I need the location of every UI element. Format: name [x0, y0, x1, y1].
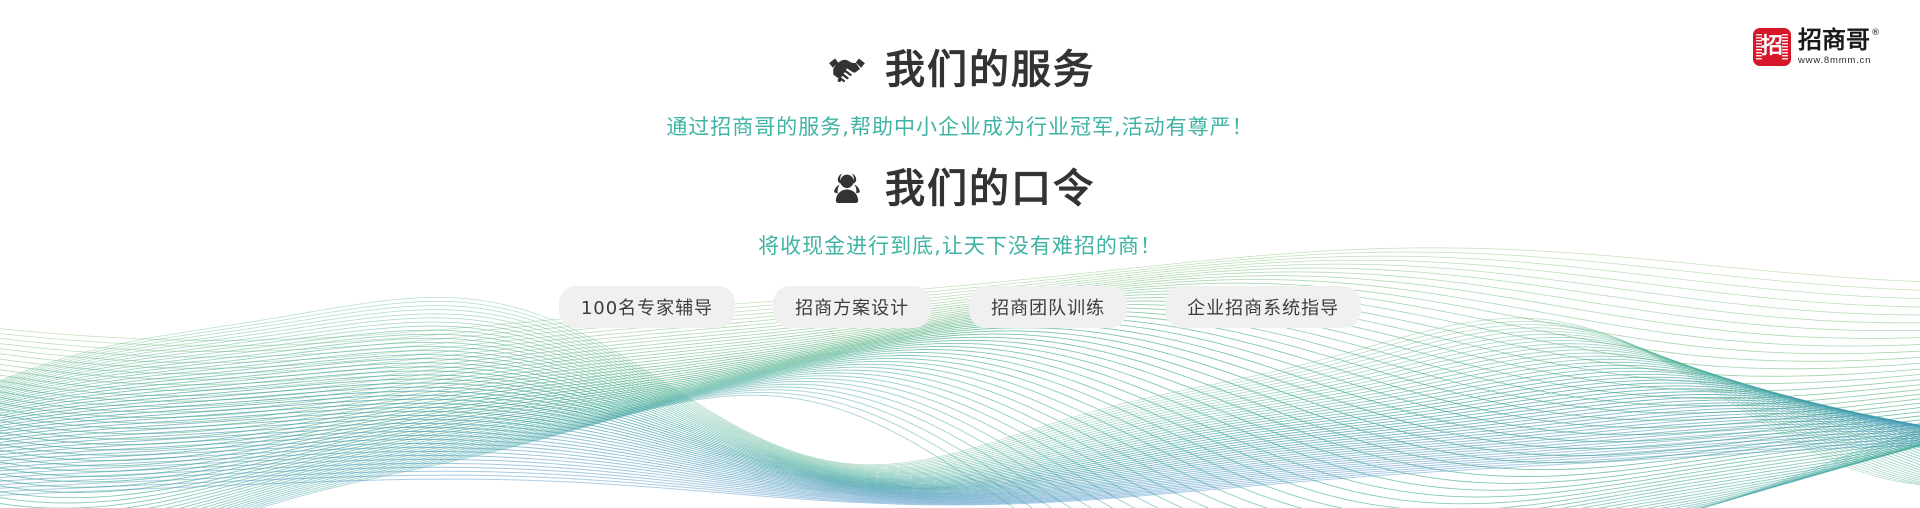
slogan-heading-text: 我们的口令 [885, 167, 1095, 211]
logo-mark-glyph: 招 [1761, 36, 1783, 58]
slogan-section: 我们的口令 将收现金进行到底,让天下没有难招的商！ [0, 167, 1920, 260]
brand-logo-text: 招商哥 ® www.8mmm.cn [1798, 28, 1880, 66]
service-subtitle: 通过招商哥的服务,帮助中小企业成为行业冠军,活动有尊严！ [0, 111, 1920, 141]
promo-banner: 招 招商哥 ® www.8mmm.cn 我 [0, 0, 1920, 508]
registered-mark: ® [1871, 29, 1880, 38]
users-icon [825, 167, 869, 211]
banner-content: 我们的服务 通过招商哥的服务,帮助中小企业成为行业冠军,活动有尊严！ 我们的 [0, 0, 1920, 328]
service-heading-text: 我们的服务 [885, 48, 1095, 92]
brand-url: www.8mmm.cn [1798, 56, 1880, 66]
brand-name: 招商哥 ® [1798, 28, 1880, 52]
brand-name-text: 招商哥 [1798, 28, 1870, 52]
brand-logo[interactable]: 招 招商哥 ® www.8mmm.cn [1753, 28, 1880, 66]
handshake-icon [825, 48, 869, 92]
tag-item[interactable]: 招商方案设计 [773, 286, 931, 328]
slogan-heading: 我们的口令 [0, 167, 1920, 211]
service-section: 我们的服务 通过招商哥的服务,帮助中小企业成为行业冠军,活动有尊严！ [0, 48, 1920, 141]
service-heading: 我们的服务 [0, 48, 1920, 92]
tag-item[interactable]: 企业招商系统指导 [1165, 286, 1361, 328]
tag-item[interactable]: 100名专家辅导 [559, 286, 735, 328]
slogan-subtitle: 将收现金进行到底,让天下没有难招的商！ [0, 230, 1920, 260]
tag-list: 100名专家辅导 招商方案设计 招商团队训练 企业招商系统指导 [0, 286, 1920, 328]
brand-logo-icon: 招 [1753, 28, 1791, 66]
tag-item[interactable]: 招商团队训练 [969, 286, 1127, 328]
